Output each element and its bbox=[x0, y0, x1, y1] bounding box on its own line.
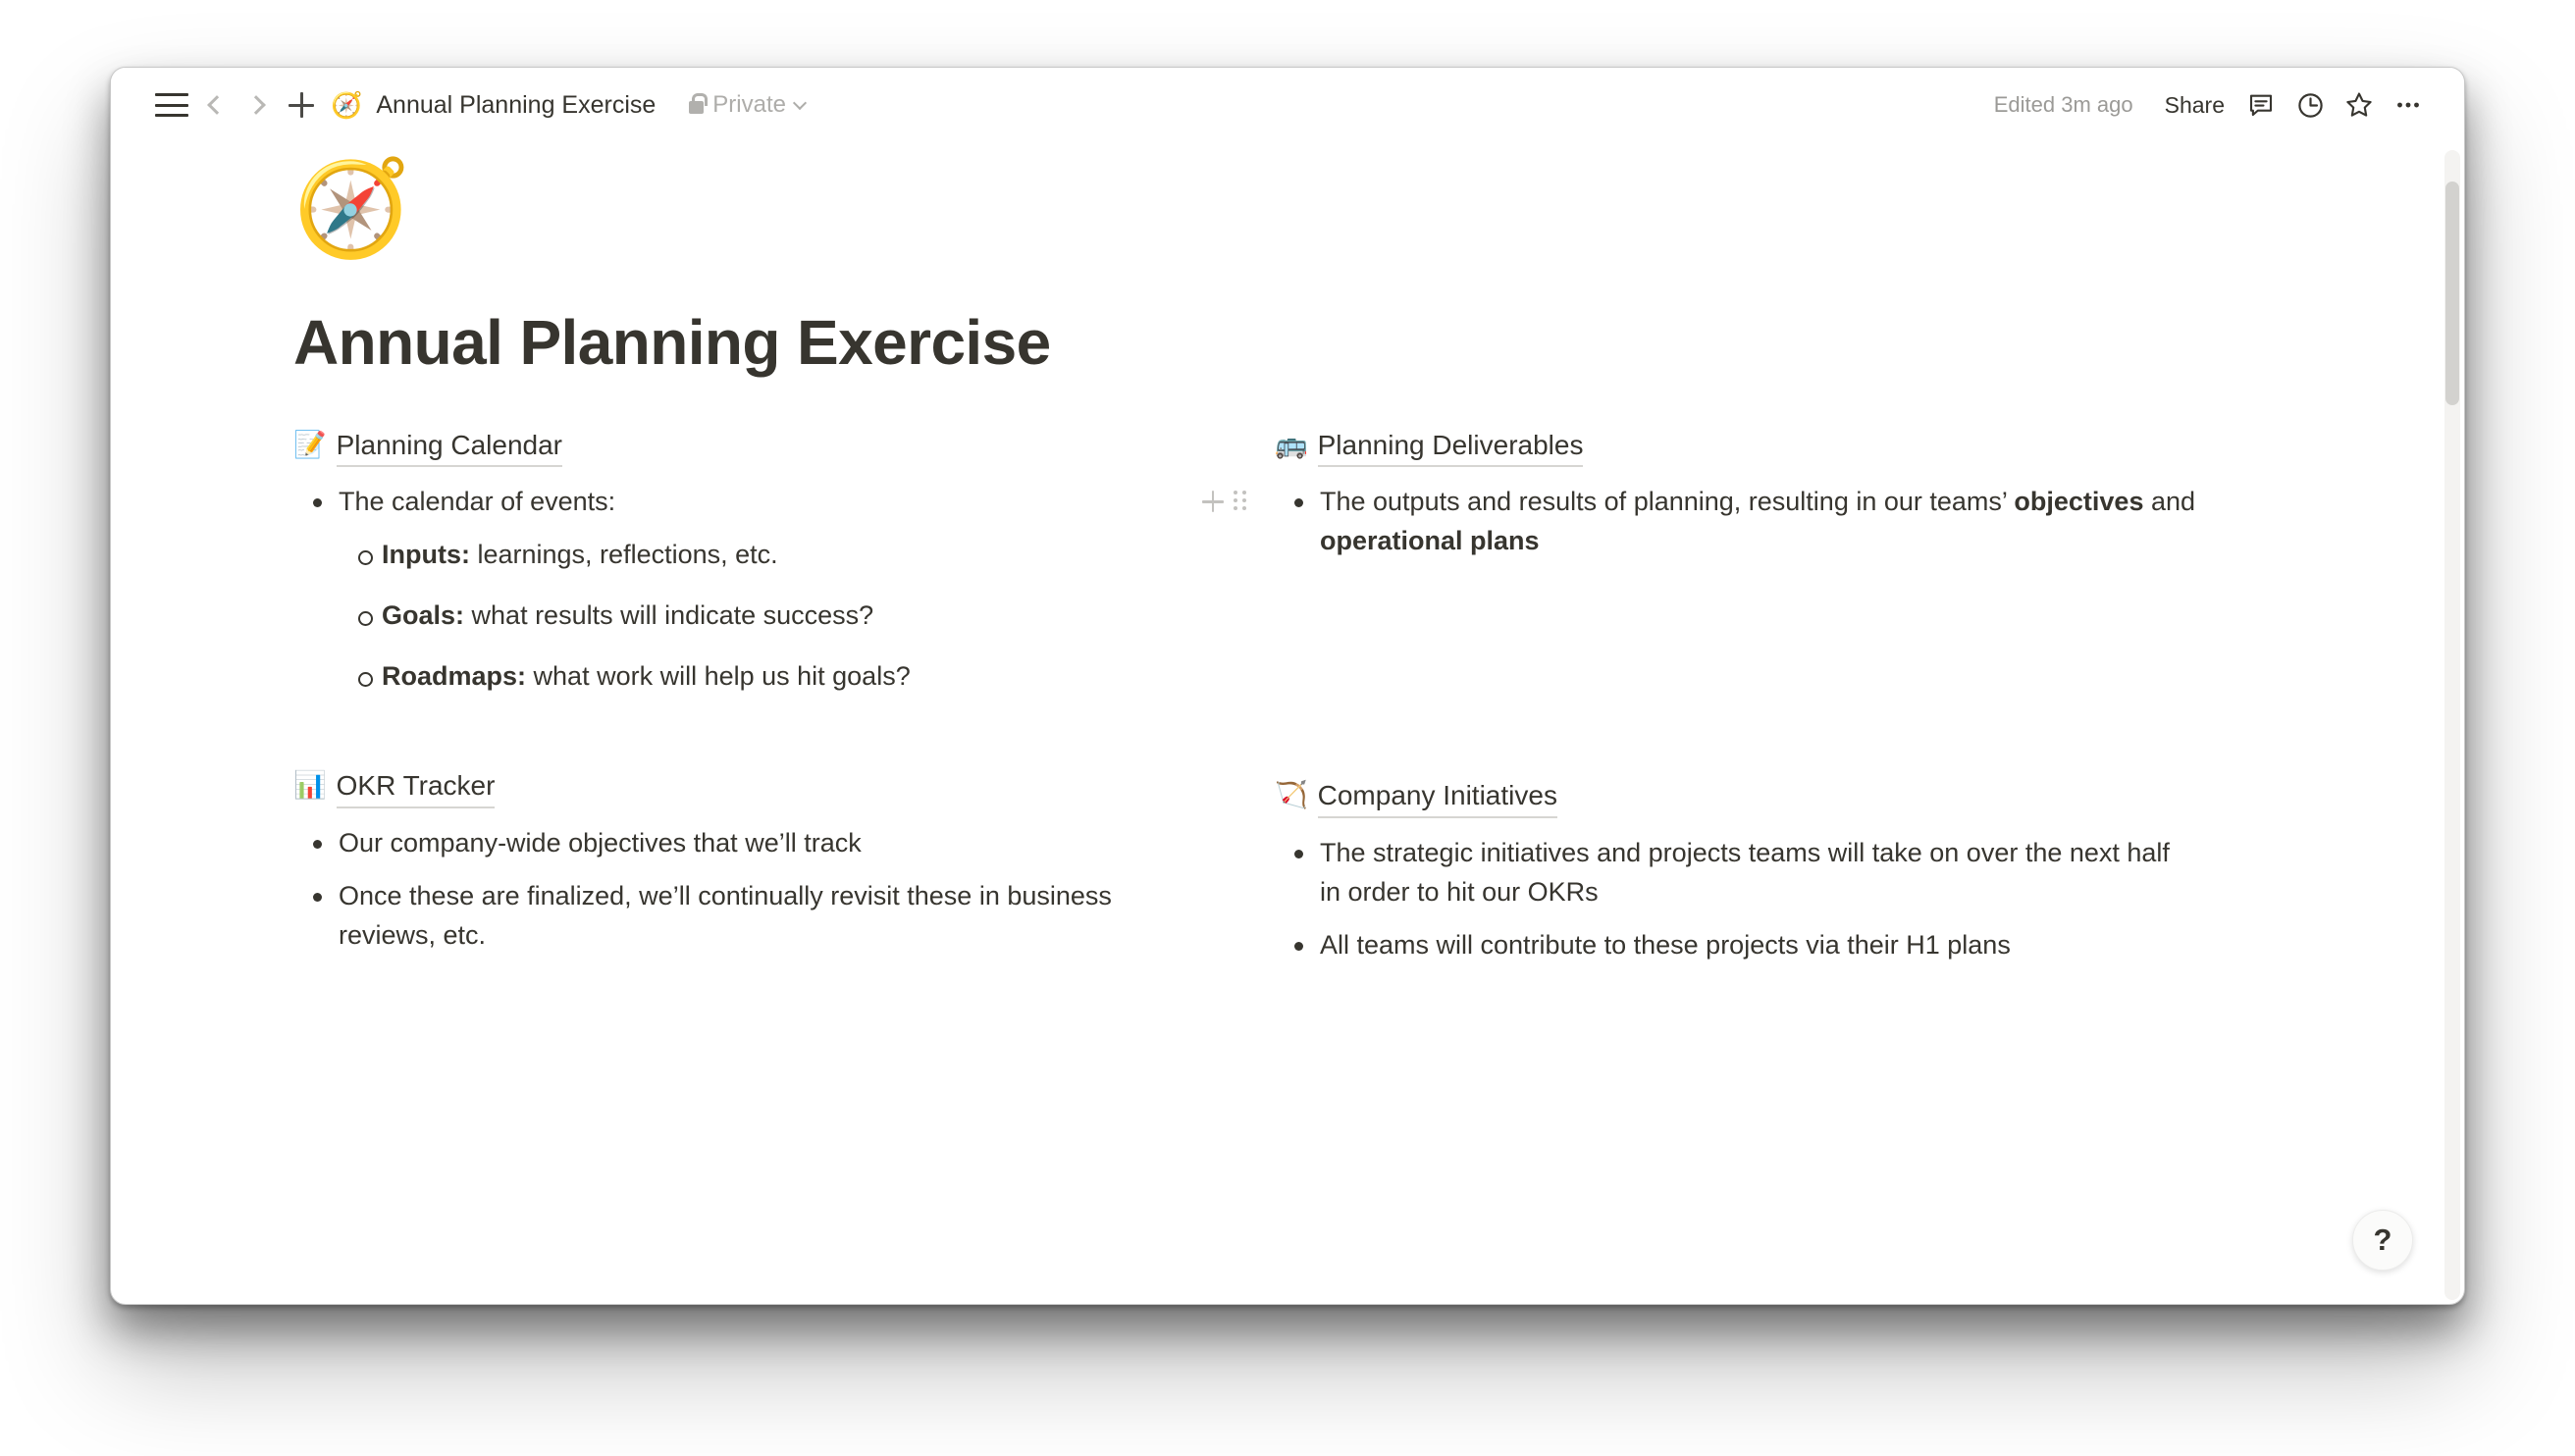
list-item: Our company-wide objectives that we’ll t… bbox=[293, 824, 1177, 863]
more-options-button[interactable] bbox=[2384, 82, 2433, 128]
bus-icon: 🚌 bbox=[1275, 427, 1308, 462]
hamburger-icon bbox=[155, 93, 188, 117]
page-history-button[interactable] bbox=[2286, 82, 2335, 128]
ellipsis-icon bbox=[2393, 90, 2423, 120]
section-planning-deliverables: 🚌 Planning Deliverables bbox=[1275, 427, 2315, 562]
section-okr-tracker: 📊 OKR Tracker Our company-wide objective… bbox=[293, 767, 1235, 956]
list-item: Inputs: learnings, reflections, etc. bbox=[339, 536, 1235, 575]
drag-handle-icon[interactable] bbox=[1234, 491, 1247, 512]
section-header: 📝 Planning Calendar bbox=[293, 427, 1235, 468]
desktop-backdrop: 🧭 Annual Planning Exercise Private Edite… bbox=[0, 0, 2575, 1456]
topbar-left-group: 🧭 Annual Planning Exercise Private bbox=[150, 83, 813, 127]
section-header: 🚌 Planning Deliverables bbox=[1275, 427, 2315, 468]
list-item: Once these are finalized, we’ll continua… bbox=[293, 877, 1177, 956]
chevron-right-icon bbox=[246, 95, 266, 115]
vertical-scrollbar-thumb[interactable] bbox=[2445, 182, 2459, 405]
last-edited-label[interactable]: Edited 3m ago bbox=[1984, 86, 2143, 124]
list-item-text: Our company-wide objectives that we’ll t… bbox=[339, 828, 862, 858]
comment-icon bbox=[2246, 90, 2276, 120]
column-right: 🚌 Planning Deliverables bbox=[1275, 427, 2315, 1016]
block-hover-controls bbox=[1202, 491, 1247, 512]
add-block-button[interactable] bbox=[1202, 491, 1224, 512]
list-item: The strategic initiatives and projects t… bbox=[1275, 834, 2178, 912]
nav-back-button[interactable] bbox=[193, 83, 236, 127]
chevron-down-icon bbox=[793, 96, 807, 110]
privacy-label: Private bbox=[712, 91, 786, 119]
list-item-text: The calendar of events: bbox=[339, 487, 615, 516]
bow-and-arrow-icon: 🏹 bbox=[1275, 777, 1308, 812]
page-icon-emoji[interactable]: 🧭 bbox=[293, 160, 411, 262]
star-icon bbox=[2343, 89, 2375, 121]
sub-bullet-list: Inputs: learnings, reflections, etc. Goa… bbox=[339, 536, 1235, 697]
link-planning-deliverables[interactable]: Planning Deliverables bbox=[1318, 427, 1584, 468]
favorite-button[interactable] bbox=[2335, 82, 2384, 128]
memo-icon: 📝 bbox=[293, 427, 327, 462]
vertical-scrollbar-track[interactable] bbox=[2444, 150, 2460, 1300]
bullet-list: The calendar of events: Inputs: learning… bbox=[293, 483, 1235, 697]
new-page-button[interactable] bbox=[280, 83, 323, 127]
page-scroll-area: 🧭 Annual Planning Exercise 📝 Planning Ca… bbox=[111, 142, 2464, 1304]
list-item-emphasis: operational plans bbox=[1320, 526, 1540, 555]
sidebar-toggle-button[interactable] bbox=[150, 83, 193, 127]
two-column-layout: 📝 Planning Calendar The calendar of even… bbox=[293, 427, 2346, 1016]
share-button[interactable]: Share bbox=[2153, 86, 2236, 125]
bullet-list: Our company-wide objectives that we’ll t… bbox=[293, 824, 1177, 956]
section-header: 📊 OKR Tracker bbox=[293, 767, 1235, 808]
lock-icon bbox=[689, 101, 704, 114]
list-item: The outputs and results of planning, res… bbox=[1275, 483, 2315, 561]
column-left: 📝 Planning Calendar The calendar of even… bbox=[293, 427, 1275, 1016]
section-planning-calendar: 📝 Planning Calendar The calendar of even… bbox=[293, 427, 1235, 698]
list-item-label: Inputs: bbox=[382, 540, 470, 569]
list-item: All teams will contribute to these proje… bbox=[1275, 926, 2178, 965]
list-item-emphasis: objectives bbox=[2014, 487, 2143, 516]
breadcrumb-emoji-icon: 🧭 bbox=[331, 92, 362, 118]
chevron-left-icon bbox=[207, 95, 227, 115]
notion-app-window: 🧭 Annual Planning Exercise Private Edite… bbox=[110, 67, 2465, 1305]
list-item-label: Goals: bbox=[382, 600, 464, 630]
list-item-text: All teams will contribute to these proje… bbox=[1320, 930, 2011, 960]
page-content: 🧭 Annual Planning Exercise 📝 Planning Ca… bbox=[111, 142, 2464, 1016]
list-item-text: The strategic initiatives and projects t… bbox=[1320, 838, 2170, 907]
page-privacy-dropdown[interactable]: Private bbox=[681, 87, 813, 123]
bullet-list: The outputs and results of planning, res… bbox=[1275, 483, 2315, 561]
nav-forward-button[interactable] bbox=[236, 83, 280, 127]
breadcrumb-page-title[interactable]: Annual Planning Exercise bbox=[368, 87, 663, 124]
list-item-text: what work will help us hit goals? bbox=[526, 661, 911, 691]
bar-chart-icon: 📊 bbox=[293, 767, 327, 803]
plus-icon bbox=[289, 92, 314, 118]
page-title[interactable]: Annual Planning Exercise bbox=[293, 307, 2346, 380]
list-item-text: what results will indicate success? bbox=[464, 600, 873, 630]
list-item-label: Roadmaps: bbox=[382, 661, 526, 691]
section-company-initiatives: 🏹 Company Initiatives The strategic init… bbox=[1275, 777, 2315, 965]
section-header: 🏹 Company Initiatives bbox=[1275, 777, 2315, 818]
list-item-text: Once these are finalized, we’ll continua… bbox=[339, 881, 1112, 950]
help-button[interactable]: ? bbox=[2352, 1210, 2413, 1271]
list-item-text: and bbox=[2143, 487, 2195, 516]
clock-icon bbox=[2295, 90, 2326, 121]
topbar-right-group: Edited 3m ago Share bbox=[1984, 82, 2433, 128]
list-item-text: The outputs and results of planning, res… bbox=[1320, 487, 2014, 516]
top-bar: 🧭 Annual Planning Exercise Private Edite… bbox=[111, 68, 2464, 142]
link-company-initiatives[interactable]: Company Initiatives bbox=[1318, 777, 1557, 818]
bullet-list: The strategic initiatives and projects t… bbox=[1275, 834, 2178, 965]
comments-button[interactable] bbox=[2236, 82, 2286, 128]
link-okr-tracker[interactable]: OKR Tracker bbox=[337, 767, 496, 808]
list-item: Goals: what results will indicate succes… bbox=[339, 597, 1235, 636]
list-item: The calendar of events: Inputs: learning… bbox=[293, 483, 1235, 697]
list-item-text: learnings, reflections, etc. bbox=[470, 540, 778, 569]
link-planning-calendar[interactable]: Planning Calendar bbox=[337, 427, 562, 468]
list-item: Roadmaps: what work will help us hit goa… bbox=[339, 657, 1235, 697]
